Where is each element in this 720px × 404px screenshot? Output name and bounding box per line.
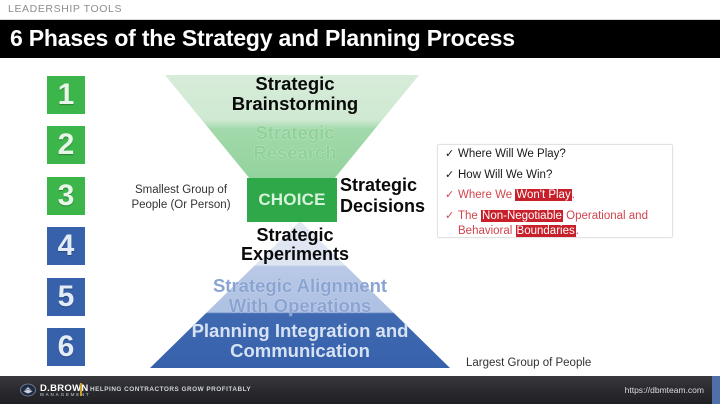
label-strategic-alignment: Strategic Alignment With Operations: [160, 276, 440, 316]
label-strategic-experiments: Strategic Experiments: [190, 226, 400, 265]
kicker-label: LEADERSHIP TOOLS: [8, 3, 122, 15]
phase-number-1: 1: [58, 80, 75, 110]
diagram-canvas: 1 2 3 4 5 6 Strategic Brainstorming Stra…: [0, 58, 720, 376]
plain-phrase: .: [576, 225, 579, 237]
brand-tagline: HELPING CONTRACTORS GROW PROFITABLY: [90, 386, 251, 393]
phase-number-3: 3: [58, 181, 75, 211]
plain-phrase: Where We: [458, 189, 515, 201]
footer-url[interactable]: https://dbmteam.com: [625, 385, 704, 395]
phase-chip-1: 1: [47, 76, 85, 114]
highlighted-phrase: Boundaries: [516, 225, 576, 237]
phase-chip-2: 2: [47, 126, 85, 164]
phase-chip-6: 6: [47, 328, 85, 366]
dbrown-logo-icon: [20, 383, 36, 397]
checklist-item[interactable]: ✓Where Will We Play?: [445, 147, 677, 162]
plain-phrase: The: [458, 210, 481, 222]
phase-chip-4: 4: [47, 227, 85, 265]
label-strategic-brainstorming: Strategic Brainstorming: [190, 74, 400, 114]
highlighted-phrase: Won't Play: [515, 189, 571, 201]
checklist-item-label: How Will We Win?: [458, 168, 677, 183]
check-icon: ✓: [445, 168, 458, 182]
choice-box: CHOICE: [247, 178, 337, 222]
footer-accent-block: [712, 376, 720, 404]
checklist: ✓Where Will We Play?✓How Will We Win?✓Wh…: [445, 147, 677, 245]
phase-number-6: 6: [58, 332, 75, 362]
annotation-smallest-group: Smallest Group of People (Or Person): [116, 183, 246, 213]
checklist-item[interactable]: ✓The Non-Negotiable Operational and Beha…: [445, 209, 677, 238]
phase-chip-5: 5: [47, 278, 85, 316]
plain-phrase: Where Will We Play?: [458, 148, 566, 160]
phase-number-2: 2: [58, 130, 75, 160]
checklist-item[interactable]: ✓How Will We Win?: [445, 168, 677, 183]
plain-phrase: .: [572, 189, 575, 201]
checklist-item-label: Where Will We Play?: [458, 147, 677, 162]
check-icon: ✓: [445, 147, 458, 161]
checklist-item-label: The Non-Negotiable Operational and Behav…: [458, 209, 677, 238]
phase-number-5: 5: [58, 282, 75, 312]
highlighted-phrase: Non-Negotiable: [481, 210, 563, 222]
check-icon: ✓: [445, 209, 458, 223]
brand-subtitle: MANAGEMENT: [40, 392, 90, 397]
checklist-item-label: Where We Won't Play.: [458, 188, 677, 203]
phase-chip-3: 3: [47, 177, 85, 215]
label-planning-integration: Planning Integration and Communication: [150, 321, 450, 361]
brand-divider: [80, 383, 82, 396]
choice-label: CHOICE: [258, 190, 325, 210]
phase-number-4: 4: [58, 231, 75, 261]
plain-phrase: How Will We Win?: [458, 169, 552, 181]
page-title: 6 Phases of the Strategy and Planning Pr…: [10, 25, 515, 52]
check-icon: ✓: [445, 188, 458, 202]
checklist-item[interactable]: ✓Where We Won't Play.: [445, 188, 677, 203]
annotation-largest-group: Largest Group of People: [466, 356, 656, 371]
label-strategic-research: Strategic Research: [190, 123, 400, 163]
